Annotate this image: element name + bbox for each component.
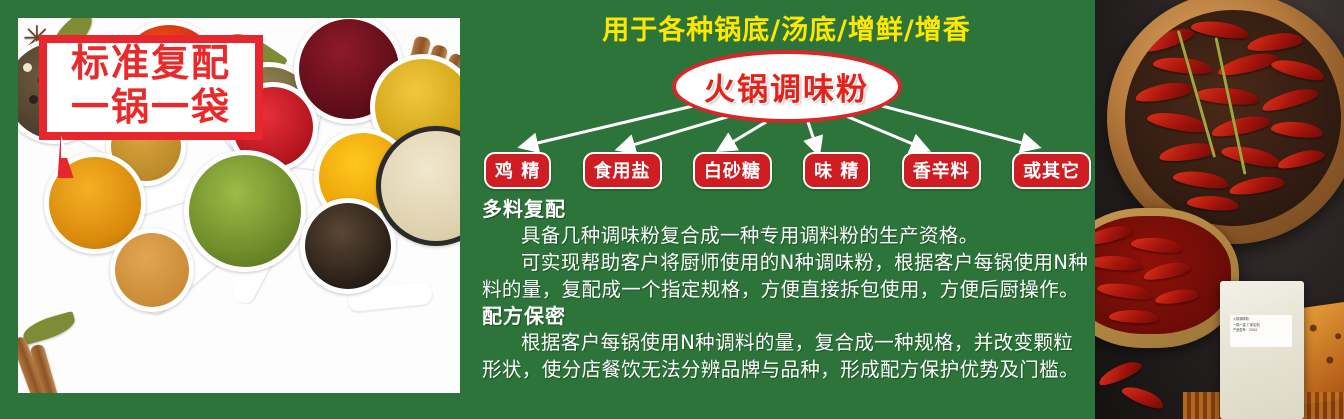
- center-content: 用于各种锅底/汤底/增鲜/增香 火锅调味粉 鸡 精 食用盐: [478, 0, 1095, 419]
- oval-title-text: 火锅调味粉: [672, 50, 902, 123]
- arrow-3: [726, 122, 766, 146]
- pill-jijing[interactable]: 鸡 精: [484, 152, 551, 189]
- arrow-4: [808, 122, 816, 146]
- product-label-line3: 产品型号：2004: [1233, 328, 1289, 334]
- section-heading-peifangbaomi: 配方保密: [482, 303, 1092, 329]
- product-label: 火锅调味粉 一锅一袋 厂家定制 产品型号：2004: [1230, 315, 1292, 347]
- speech-bubble: 标准复配 一锅一袋: [39, 35, 263, 140]
- basket-chilies: [1095, 216, 1231, 334]
- chili-basket: [1095, 208, 1239, 348]
- headline: 用于各种锅底/汤底/增鲜/增香: [478, 8, 1095, 47]
- spice-photo-frame: ✳ ✳ ✳: [18, 18, 460, 393]
- pill-baishatang[interactable]: 白砂糖: [693, 152, 772, 189]
- spice-bowl-dried-herbs: [184, 150, 306, 272]
- right-photo-panel: 火锅调味粉 一锅一袋 厂家定制 产品型号：2004: [1095, 0, 1344, 419]
- section-heading-duoliaofupei: 多料复配: [482, 196, 1092, 222]
- ingredient-pill-row: 鸡 精 食用盐 白砂糖 味 精 香辛料 或其它: [484, 152, 1091, 189]
- promo-banner: ✳ ✳ ✳: [0, 0, 1344, 419]
- section-paragraph: 根据客户每锅使用N种调料的量，复合成一种规格，并改变颗粒形状，使分店餐饮无法分辨…: [482, 329, 1092, 383]
- speech-bubble-line2: 一锅一袋: [39, 85, 263, 129]
- arrow-6: [882, 106, 1030, 145]
- speech-bubble-line1: 标准复配: [39, 41, 263, 85]
- bay-leaf: [20, 311, 77, 345]
- pill-huoqita[interactable]: 或其它: [1012, 152, 1091, 189]
- section-paragraph: 具备几种调味粉复合成一种专用调料粉的生产资格。: [482, 222, 1092, 249]
- pill-weijing[interactable]: 味 精: [803, 152, 870, 189]
- oval-title-badge: 火锅调味粉: [672, 50, 902, 123]
- powder-product-bag: 火锅调味粉 一锅一袋 厂家定制 产品型号：2004: [1220, 281, 1304, 419]
- section-paragraph: 可实现帮助客户将厨师使用的N种调味粉，根据客户每锅使用N种料的量，复配成一个指定…: [482, 249, 1092, 303]
- wok-interior: [1125, 10, 1341, 226]
- spice-bowl-beige-powder: [110, 228, 194, 312]
- left-photo-panel: ✳ ✳ ✳: [0, 0, 478, 419]
- pill-shiyongyan[interactable]: 食用盐: [583, 152, 662, 189]
- arrow-1: [529, 106, 693, 145]
- speech-bubble-tail-inner: [61, 136, 84, 158]
- pill-xiangxinliao[interactable]: 香辛料: [902, 152, 981, 189]
- description-body: 多料复配 具备几种调味粉复合成一种专用调料粉的生产资格。 可实现帮助客户将厨师使…: [482, 196, 1092, 383]
